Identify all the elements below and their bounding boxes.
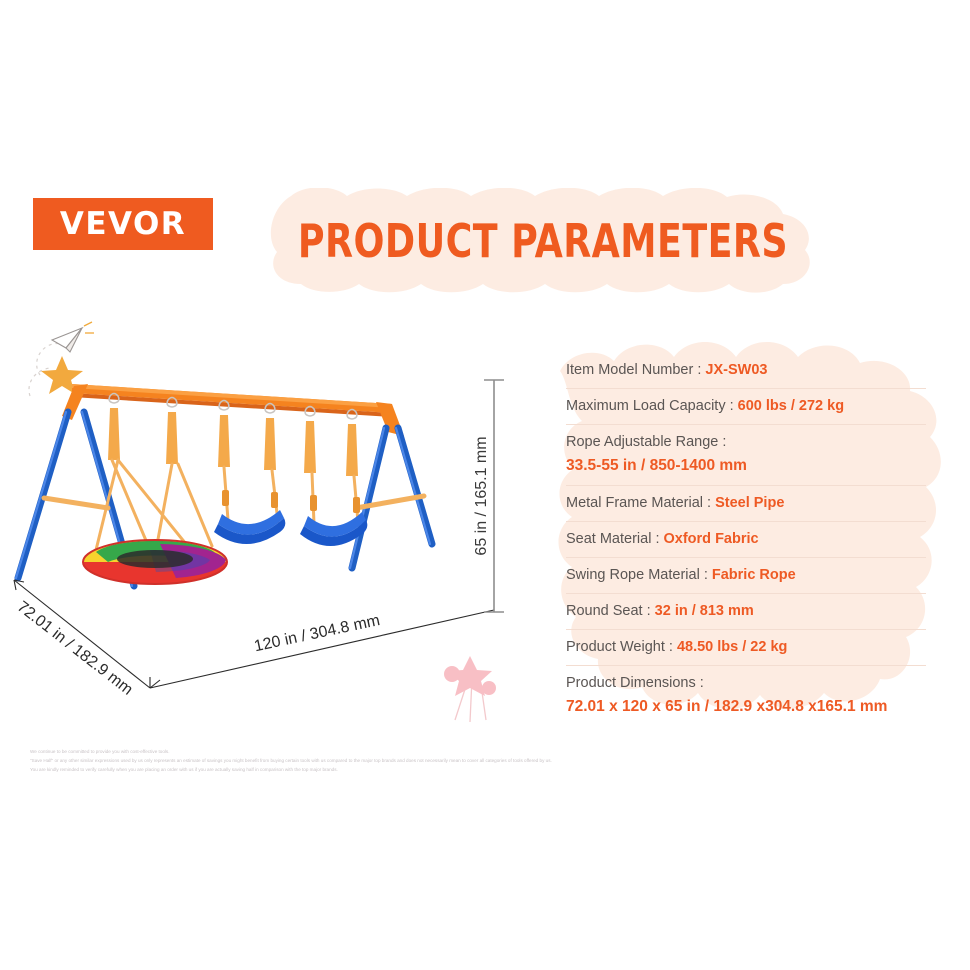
spec-label: Round Seat :: [566, 603, 655, 619]
swing-right-frame: [350, 402, 432, 568]
spec-label: Maximum Load Capacity :: [566, 398, 738, 414]
spec-row: Metal Frame Material : Steel Pipe: [566, 486, 926, 522]
spec-value: Fabric Rope: [712, 567, 796, 583]
round-seat: [83, 540, 227, 584]
spec-value: Oxford Fabric: [664, 531, 759, 547]
spec-label: Seat Material :: [566, 531, 664, 547]
spec-label: Metal Frame Material :: [566, 495, 715, 511]
logo-text: VEVOR: [60, 206, 186, 242]
spec-value: 72.01 x 120 x 65 in / 182.9 x304.8 x165.…: [566, 696, 926, 718]
spec-row: Swing Rope Material : Fabric Rope: [566, 558, 926, 594]
spec-row: Seat Material : Oxford Fabric: [566, 522, 926, 558]
spec-label: Item Model Number :: [566, 362, 705, 378]
disclaimer-line: We continue to be committed to provide y…: [30, 748, 670, 757]
spec-value: 48.50 lbs / 22 kg: [677, 639, 787, 655]
spec-value: JX-SW03: [705, 362, 767, 378]
page-title: PRODUCT PARAMETERS: [279, 188, 807, 293]
spec-label: Product Dimensions :: [566, 675, 704, 691]
spec-row: Product Weight : 48.50 lbs / 22 kg: [566, 630, 926, 666]
spec-value: 32 in / 813 mm: [655, 603, 754, 619]
dimension-lines: [14, 580, 494, 688]
spec-value: Steel Pipe: [715, 495, 784, 511]
spec-row: Maximum Load Capacity : 600 lbs / 272 kg: [566, 389, 926, 425]
spec-list: Item Model Number : JX-SW03Maximum Load …: [566, 353, 926, 725]
spec-label: Rope Adjustable Range :: [566, 434, 726, 450]
vevor-logo: VEVOR: [33, 198, 213, 250]
spec-label: Swing Rope Material :: [566, 567, 712, 583]
spec-row: Round Seat : 32 in / 813 mm: [566, 594, 926, 630]
height-dimension: 65 in / 165.1 mm: [473, 380, 504, 612]
width-dimension-label: 120 in / 304.8 mm: [253, 612, 382, 655]
disclaimer-text: We continue to be committed to provide y…: [30, 748, 670, 775]
swing-top-beam: [72, 384, 392, 417]
depth-dimension-label: 72.01 in / 182.9 mm: [14, 598, 136, 698]
disclaimer-line: "Save Half" or any other similar express…: [30, 757, 670, 766]
height-dimension-label: 65 in / 165.1 mm: [473, 436, 490, 555]
spec-label: Product Weight :: [566, 639, 677, 655]
belt-seats: [214, 510, 367, 546]
spec-row: Item Model Number : JX-SW03: [566, 353, 926, 389]
disclaimer-line: You are kindly reminded to verify carefu…: [30, 766, 670, 775]
spec-value: 600 lbs / 272 kg: [738, 398, 844, 414]
flowers-icon: [444, 656, 496, 722]
product-illustration: 65 in / 165.1 mm 120 in / 304.8 mm 72.01…: [0, 300, 540, 760]
spec-row: Rope Adjustable Range :33.5-55 in / 850-…: [566, 425, 926, 485]
product-parameters-page: VEVOR PRODUCT PARAMETERS: [0, 0, 970, 970]
spec-row: Product Dimensions :72.01 x 120 x 65 in …: [566, 666, 926, 725]
spec-value: 33.5-55 in / 850-1400 mm: [566, 455, 926, 477]
title-banner: PRODUCT PARAMETERS: [243, 188, 843, 293]
header: VEVOR PRODUCT PARAMETERS: [0, 180, 970, 310]
spec-panel: Item Model Number : JX-SW03Maximum Load …: [520, 325, 970, 745]
